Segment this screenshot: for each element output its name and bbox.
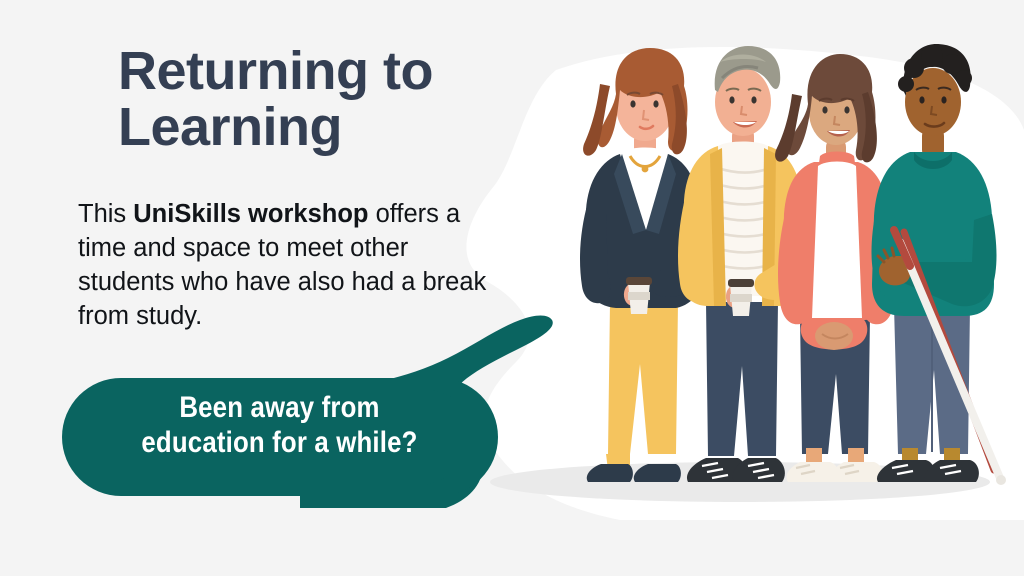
body-emphasis: UniSkills workshop: [133, 200, 368, 228]
slide-canvas: Returning to Learning This UniSkills wor…: [0, 0, 1024, 576]
students-illustration: [470, 34, 1024, 534]
figure-4: [872, 44, 1007, 485]
bubble-text: Been away from education for a while?: [92, 390, 466, 461]
body-lead: This: [78, 200, 133, 228]
